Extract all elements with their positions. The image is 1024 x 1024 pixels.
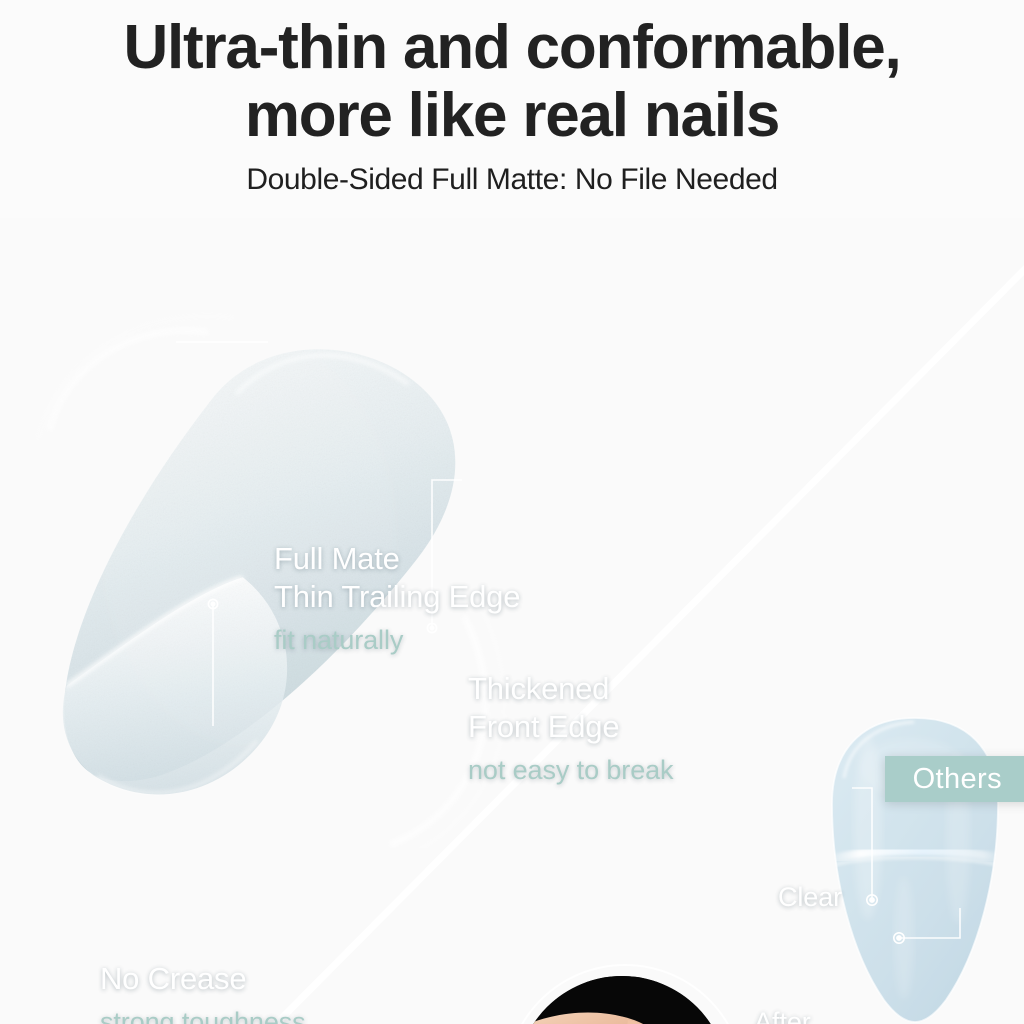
callout-thickened-front-edge: Thickened Front Edge not easy to break [468,670,673,787]
bend-demo-inset [516,976,728,1024]
callout-thickened-caption: not easy to break [468,753,673,787]
callout-full-matte: Full Mate Thin Trailing Edge fit natural… [274,540,520,657]
inset-photo [516,976,728,1024]
label-after-bend: After Bend [748,1006,811,1024]
callout-no-crease-title: No Crease [100,960,306,998]
brand-badge-others: Others [885,756,1024,802]
callout-full-matte-title: Full Mate Thin Trailing Edge [274,540,520,616]
product-photo-area: Full Mate Thin Trailing Edge fit natural… [0,218,1024,1024]
page-subtitle: Double-Sided Full Matte: No File Needed [0,163,1024,197]
callout-no-crease-caption: strong toughness [100,1005,306,1024]
callout-full-matte-caption: fit naturally [274,623,520,657]
label-clear: Clear [778,881,842,914]
page-title: Ultra-thin and conformable, more like re… [0,14,1024,150]
header-banner: Ultra-thin and conformable, more like re… [0,0,1024,218]
product-infographic: Full Mate Thin Trailing Edge fit natural… [0,0,1024,1024]
callout-thickened-title: Thickened Front Edge [468,670,673,746]
callout-no-crease: No Crease strong toughness [100,960,306,1024]
